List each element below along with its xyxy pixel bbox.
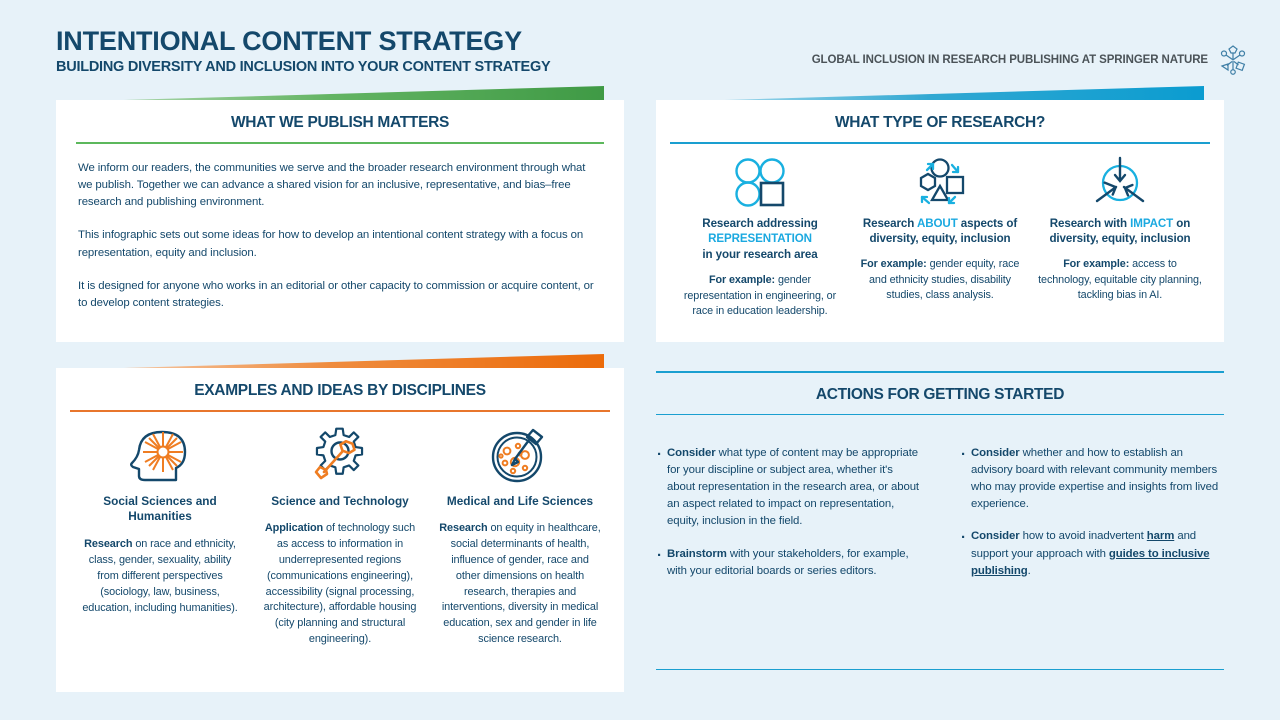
shapes-cycle-arrows-icon xyxy=(858,156,1022,208)
research-head-1-post: in your research area xyxy=(702,248,817,261)
research-head-1: Research addressing REPRESENTATION in yo… xyxy=(678,216,842,264)
panel-rule-orange xyxy=(70,410,610,412)
page-subtitle: BUILDING DIVERSITY AND INCLUSION INTO YO… xyxy=(56,59,550,75)
discipline-lead-1: Research xyxy=(84,538,132,550)
panel-title-disciplines: EXAMPLES AND IDEAS BY DISCIPLINES xyxy=(70,382,610,400)
research-head-2: Research ABOUT aspects of diversity, equ… xyxy=(858,216,1022,248)
publish-paragraph-1: We inform our readers, the communities w… xyxy=(78,160,602,212)
actions-right-column: Consider whether and how to establish an… xyxy=(942,445,1224,595)
link-harm[interactable]: harm xyxy=(1147,530,1174,542)
discipline-column-social-sciences: Social Sciences and Humanities Research … xyxy=(70,424,250,648)
research-example-label-3: For example: xyxy=(1063,258,1129,270)
panel-actions-getting-started: ACTIONS FOR GETTING STARTED Consider wha… xyxy=(656,368,1224,692)
infographic-page: INTENTIONAL CONTENT STRATEGY BUILDING DI… xyxy=(0,0,1280,720)
research-head-3-highlight: IMPACT xyxy=(1130,217,1173,230)
research-head-3-pre: Research with xyxy=(1050,217,1130,230)
panel-rule-green xyxy=(76,142,604,144)
research-columns: Research addressing REPRESENTATION in yo… xyxy=(670,156,1210,320)
research-example-3: For example: access to technology, equit… xyxy=(1038,257,1202,303)
discipline-text-2: Application of technology such as access… xyxy=(258,521,422,648)
research-head-2-highlight: ABOUT xyxy=(917,217,958,230)
research-head-3: Research with IMPACT on diversity, equit… xyxy=(1038,216,1202,248)
research-column-representation: Research addressing REPRESENTATION in yo… xyxy=(670,156,850,320)
panel-title-publish: WHAT WE PUBLISH MATTERS xyxy=(76,114,604,132)
research-example-2: For example: gender equity, race and eth… xyxy=(858,257,1022,303)
action-lead-l1: Consider xyxy=(667,447,716,459)
actions-columns: Consider what type of content may be app… xyxy=(656,445,1224,595)
discipline-column-medical-life-sciences: Medical and Life Sciences Research on eq… xyxy=(430,424,610,648)
action-lead-r2: Consider xyxy=(971,530,1020,542)
brand-text: GLOBAL INCLUSION IN RESEARCH PUBLISHING … xyxy=(812,54,1208,66)
research-head-1-highlight: REPRESENTATION xyxy=(708,232,812,245)
actions-bottom-title-rule xyxy=(656,414,1224,416)
discipline-body-2: of technology such as access to informat… xyxy=(264,522,417,645)
research-example-label-2: For example: xyxy=(861,258,927,270)
petri-dish-pipette-icon xyxy=(438,424,602,486)
actions-footer-rule xyxy=(656,669,1224,671)
panel-title-research: WHAT TYPE OF RESEARCH? xyxy=(670,114,1210,132)
four-shapes-grid-icon xyxy=(678,156,842,208)
discipline-text-1: Research on race and ethnicity, class, g… xyxy=(78,537,242,616)
panel-examples-by-disciplines: EXAMPLES AND IDEAS BY DISCIPLINES xyxy=(56,368,624,692)
list-item: Consider how to avoid inadvertent harm a… xyxy=(960,528,1224,579)
list-item: Brainstorm with your stakeholders, for e… xyxy=(656,546,920,580)
publish-paragraph-2: This infographic sets out some ideas for… xyxy=(78,227,602,262)
discipline-text-3: Research on equity in healthcare, social… xyxy=(438,521,602,648)
discipline-head-1: Social Sciences and Humanities xyxy=(78,494,242,526)
panel-what-type-of-research: WHAT TYPE OF RESEARCH? Research addressi… xyxy=(656,100,1224,342)
discipline-column-science-technology: Science and Technology Application of te… xyxy=(250,424,430,648)
actions-left-column: Consider what type of content may be app… xyxy=(656,445,942,595)
title-block: INTENTIONAL CONTENT STRATEGY BUILDING DI… xyxy=(56,27,550,75)
panel-title-actions: ACTIONS FOR GETTING STARTED xyxy=(656,386,1224,404)
list-item: Consider what type of content may be app… xyxy=(656,445,920,531)
action-lead-l2: Brainstorm xyxy=(667,548,727,560)
target-converging-arrows-icon xyxy=(1038,156,1202,208)
springer-nature-logo-icon xyxy=(1218,44,1248,76)
actions-right-list: Consider whether and how to establish an… xyxy=(960,445,1224,580)
discipline-columns: Social Sciences and Humanities Research … xyxy=(70,424,610,648)
research-head-1-pre: Research addressing xyxy=(702,217,817,230)
discipline-body-3: on equity in healthcare, social determin… xyxy=(442,522,601,645)
discipline-head-3: Medical and Life Sciences xyxy=(438,494,602,510)
header: INTENTIONAL CONTENT STRATEGY BUILDING DI… xyxy=(0,0,1280,88)
panel-rule-cyan xyxy=(670,142,1210,144)
research-column-impact: Research with IMPACT on diversity, equit… xyxy=(1030,156,1210,320)
actions-top-rule xyxy=(656,371,1224,373)
actions-left-list: Consider what type of content may be app… xyxy=(656,445,920,580)
head-brain-icon xyxy=(78,424,242,486)
page-title: INTENTIONAL CONTENT STRATEGY xyxy=(56,27,550,55)
publish-body: We inform our readers, the communities w… xyxy=(76,160,604,313)
action-text-l1: what type of content may be appropriate … xyxy=(667,447,919,527)
action-text-r2c: . xyxy=(1028,565,1031,577)
publish-paragraph-3: It is designed for anyone who works in a… xyxy=(78,278,602,313)
research-head-2-pre: Research xyxy=(863,217,917,230)
discipline-lead-3: Research xyxy=(439,522,487,534)
list-item: Consider whether and how to establish an… xyxy=(960,445,1224,513)
discipline-head-2: Science and Technology xyxy=(258,494,422,510)
gear-wrench-icon xyxy=(258,424,422,486)
panel-what-we-publish: WHAT WE PUBLISH MATTERS We inform our re… xyxy=(56,100,624,342)
brand-lockup: GLOBAL INCLUSION IN RESEARCH PUBLISHING … xyxy=(812,44,1248,76)
action-lead-r1: Consider xyxy=(971,447,1020,459)
research-column-about: Research ABOUT aspects of diversity, equ… xyxy=(850,156,1030,320)
research-example-label-1: For example: xyxy=(709,274,775,286)
research-example-1: For example: gender representation in en… xyxy=(678,273,842,319)
discipline-lead-2: Application xyxy=(265,522,323,534)
action-text-r2a: how to avoid inadvertent xyxy=(1020,530,1147,542)
